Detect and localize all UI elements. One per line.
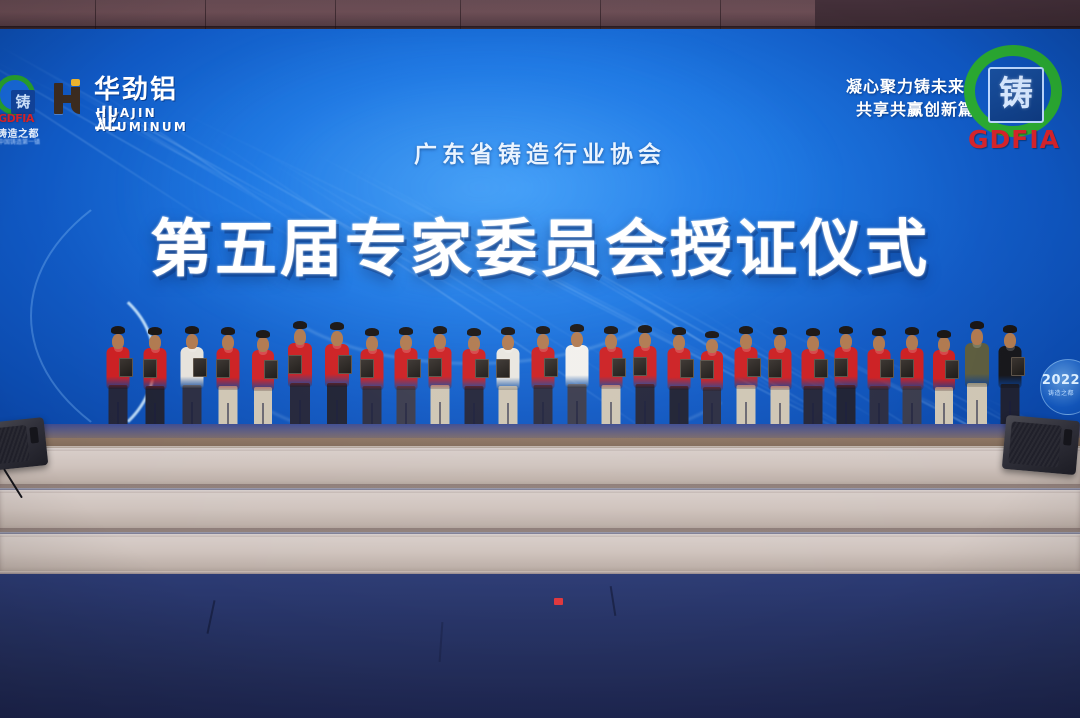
recipient-head	[366, 336, 378, 351]
recipient-head	[840, 334, 852, 349]
recipient-hair	[185, 326, 199, 334]
recipient-head	[774, 335, 786, 350]
recipient-head	[906, 335, 918, 350]
stage-apron-blue-band	[0, 424, 1080, 438]
stage-step-2	[0, 490, 1080, 532]
recipient-head	[1004, 333, 1016, 348]
award-plaque	[407, 359, 421, 378]
hj-monogram-icon	[52, 77, 90, 117]
award-plaque	[216, 359, 230, 378]
recipient-hair	[1003, 325, 1017, 333]
recipient-hair	[467, 328, 481, 336]
recipient-hair	[937, 330, 951, 338]
sponsor-ring-icon: 铸	[0, 75, 35, 115]
recipient-hair	[501, 327, 515, 335]
sponsor-seal-char: 铸	[11, 90, 35, 114]
award-plaque	[119, 358, 133, 377]
recipient-hair	[604, 326, 618, 334]
award-plaque	[680, 359, 694, 378]
recipient-head	[673, 335, 685, 350]
recipient-hair	[705, 331, 719, 338]
recipient-head	[222, 335, 234, 350]
stage-step-3	[0, 534, 1080, 574]
recipient-hair	[433, 326, 447, 334]
huajin-brand-logo: 华劲铝业 HUAJIN ALUMINUM	[52, 73, 202, 131]
recipient-head	[571, 332, 583, 347]
award-plaque	[834, 358, 848, 377]
recipient-hair	[111, 326, 125, 334]
recipient-head	[873, 336, 885, 351]
event-subtitle: 广东省铸造行业协会	[0, 135, 1080, 169]
event-title: 第五届专家委员会授证仪式	[0, 213, 1080, 285]
recipient-hair	[672, 327, 686, 335]
recipient-hair	[293, 321, 307, 329]
recipient-hair	[839, 326, 853, 334]
stage-monitor-speaker-right	[1002, 415, 1080, 475]
award-plaque	[700, 360, 714, 379]
recipient-head	[400, 335, 412, 350]
recipient-head	[537, 334, 549, 349]
slogan-line-1: 凝心聚力铸未来	[846, 77, 965, 96]
award-plaque	[880, 359, 894, 378]
association-seal-char: 铸	[988, 67, 1044, 123]
recipient-hair	[970, 321, 984, 329]
award-plaque	[496, 359, 510, 378]
sponsor-acronym: GDFIA	[0, 112, 40, 125]
stage-step-1	[0, 448, 1080, 488]
award-plaque	[1011, 357, 1025, 376]
recipient-hair	[399, 327, 413, 335]
recipient-head	[257, 337, 269, 352]
recipient-hair	[570, 324, 584, 332]
recipient-head	[294, 329, 306, 345]
award-plaque	[288, 355, 302, 374]
recipient-hair	[638, 325, 652, 333]
award-plaque	[264, 360, 278, 379]
award-plaque	[633, 357, 647, 376]
recipient-head	[938, 337, 950, 352]
sponsor-seal-logo-left: 铸 GDFIA	[0, 73, 42, 131]
recipient-hair	[739, 326, 753, 334]
recipient-head	[740, 334, 752, 349]
stage-step-2-lip	[0, 488, 1080, 493]
recipient-head	[112, 334, 124, 349]
award-plaque	[612, 358, 626, 377]
recipient-head	[468, 336, 480, 351]
stage-monitor-speaker-left	[0, 417, 48, 471]
event-photo: 铸 GDFIA 铸造之都 中国铸造第一镇 华劲铝业 HUAJIN ALUMINU…	[0, 0, 1080, 718]
recipient-head	[186, 334, 198, 349]
recipient-hair	[872, 328, 886, 336]
stage-step-3-lip	[0, 532, 1080, 537]
recipient-head	[502, 335, 514, 350]
recipient-head	[807, 336, 819, 351]
recipient-shirt	[566, 345, 589, 388]
award-plaque	[360, 359, 374, 378]
recipient-hair	[905, 327, 919, 335]
recipient-head	[706, 339, 718, 353]
recipient-head	[971, 329, 983, 345]
recipient-head	[434, 334, 446, 349]
recipient-hair	[773, 327, 787, 335]
recipient-head	[605, 334, 617, 349]
award-plaque	[428, 358, 442, 377]
recipient-hair	[806, 328, 820, 336]
recipient-hair	[221, 327, 235, 335]
award-plaque	[193, 358, 207, 377]
award-plaque	[768, 359, 782, 378]
recipient-head	[639, 333, 651, 348]
award-plaque	[900, 359, 914, 378]
recipient-hair	[148, 327, 162, 335]
recipient-hair	[330, 322, 344, 330]
award-plaque	[475, 359, 489, 378]
floor-position-marker	[554, 598, 563, 605]
award-plaque	[747, 358, 761, 377]
award-plaque	[945, 360, 959, 379]
award-plaque	[814, 359, 828, 378]
recipient-hair	[256, 330, 270, 338]
venue-floor	[0, 574, 1080, 718]
recipient-head	[331, 331, 343, 346]
award-plaque	[143, 359, 157, 378]
recipient-shirt	[965, 343, 989, 387]
huajin-name-en: HUAJIN ALUMINUM	[96, 106, 202, 134]
award-plaque	[544, 358, 558, 377]
recipient-hair	[536, 326, 550, 334]
stage-step-1-lip	[0, 446, 1080, 451]
recipient-hair	[365, 328, 379, 336]
recipient-head	[149, 335, 161, 350]
award-plaque	[338, 355, 352, 374]
